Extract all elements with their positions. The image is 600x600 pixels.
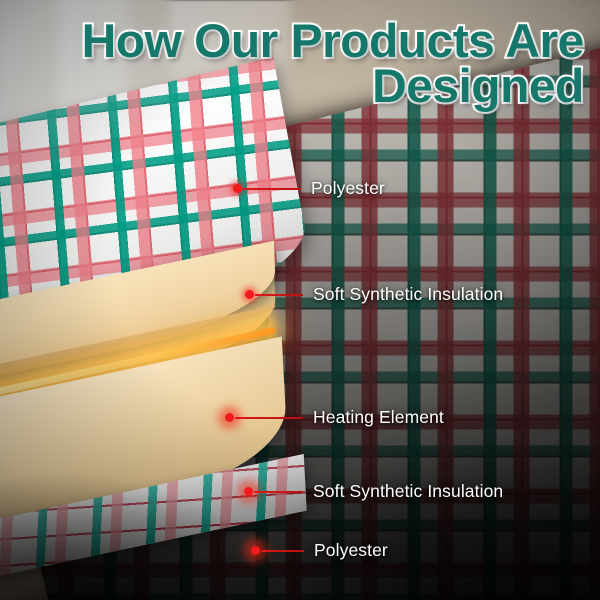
callout-polyester-bottom: Polyester <box>251 540 388 561</box>
callout-leader-line <box>261 550 304 552</box>
callout-heating-element: Heating Element <box>225 407 444 428</box>
callout-label: Polyester <box>311 178 385 199</box>
callout-anchor-dot-icon <box>244 487 253 496</box>
callout-leader-line <box>243 188 301 190</box>
callout-label: Heating Element <box>313 407 444 428</box>
callout-leader-line <box>255 294 303 296</box>
callout-insulation-bottom: Soft Synthetic Insulation <box>244 481 503 502</box>
callout-label: Soft Synthetic Insulation <box>313 481 503 502</box>
page-title: How Our Products Are Designed <box>0 18 600 108</box>
callout-anchor-dot-icon <box>225 413 234 422</box>
page-title-line-1: How Our Products Are <box>0 18 584 63</box>
callout-polyester-top: Polyester <box>233 178 385 199</box>
callout-insulation-top: Soft Synthetic Insulation <box>245 284 503 305</box>
callout-label: Polyester <box>314 540 388 561</box>
callout-leader-line <box>254 491 303 493</box>
page-title-line-2: Designed <box>0 63 584 108</box>
callout-anchor-dot-icon <box>233 184 242 193</box>
infographic-canvas: How Our Products Are Designed Polyester … <box>0 0 600 600</box>
callout-leader-line <box>235 417 303 419</box>
callout-anchor-dot-icon <box>245 290 254 299</box>
callout-anchor-dot-icon <box>251 546 260 555</box>
callout-label: Soft Synthetic Insulation <box>313 284 503 305</box>
